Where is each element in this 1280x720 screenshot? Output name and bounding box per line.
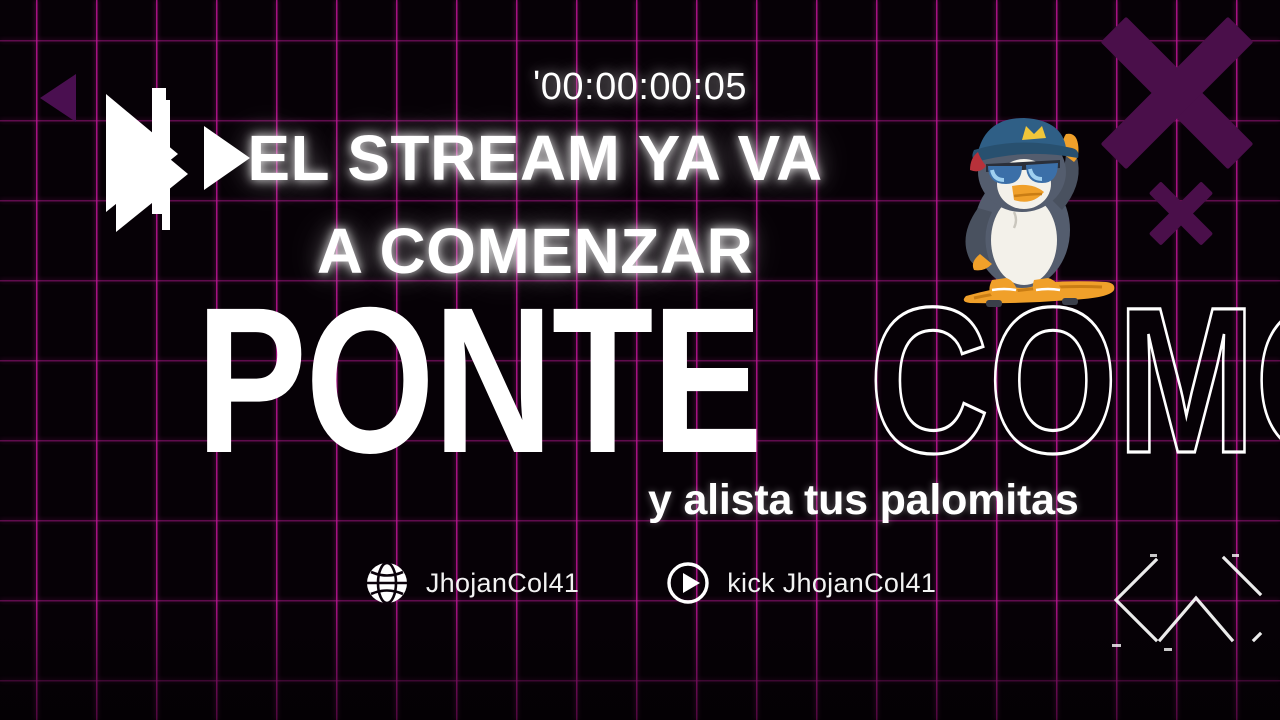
social-label-kick: kick JhojanCol41 — [727, 568, 936, 599]
social-handles-row: JhojanCol41 kick JhojanCol41 — [0, 560, 1280, 606]
big-message-subline: y alista tus palomitas — [648, 476, 1079, 525]
big-message: PONTE COMOD@ — [196, 296, 1280, 467]
social-item-website[interactable]: JhojanCol41 — [364, 560, 579, 606]
stream-starting-overlay: '00:00:00:05 EL STREAM YA VA A COMENZAR … — [0, 0, 1280, 720]
timer-value: 00:00:00:05 — [541, 66, 747, 108]
timer-tick-mark: ' — [533, 64, 541, 106]
penguin-body — [966, 118, 1079, 298]
big-message-solid-word: PONTE — [196, 296, 761, 467]
background-bottom-fade — [0, 600, 1280, 720]
globe-icon — [364, 560, 410, 606]
big-message-outline-word: COMOD@ — [869, 296, 1280, 467]
headline-line-1: EL STREAM YA VA — [247, 122, 822, 194]
social-label-website: JhojanCol41 — [426, 568, 579, 599]
penguin-skater-mascot — [930, 100, 1130, 320]
social-item-kick[interactable]: kick JhojanCol41 — [665, 560, 936, 606]
play-circle-icon — [665, 560, 711, 606]
